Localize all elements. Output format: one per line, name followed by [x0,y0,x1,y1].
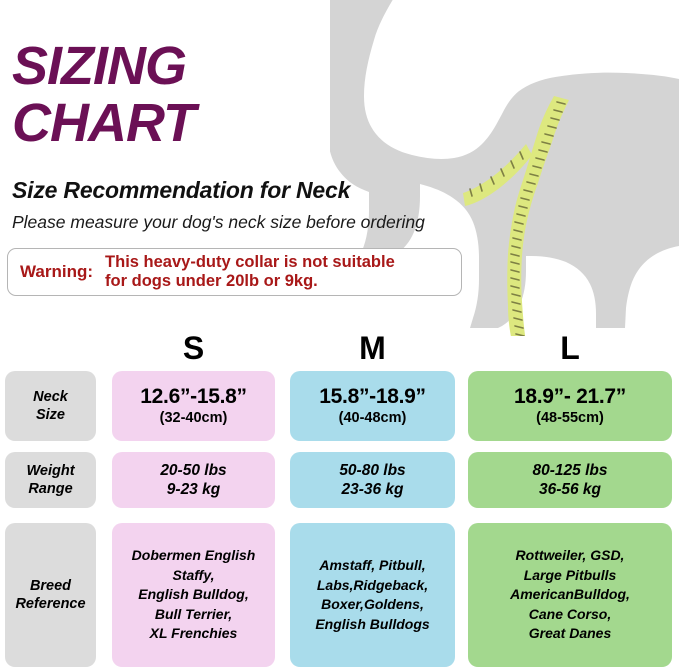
breed-large-line-4: Cane Corso, [529,605,611,625]
measuring-instruction: Please measure your dog's neck size befo… [12,212,425,233]
weight-range-small-kg: 9-23 kg [167,480,220,499]
warning-line-1: This heavy-duty collar is not suitable [105,253,395,272]
row-label-weight-line-2: Range [28,480,72,498]
page-title: SIZING CHART [12,38,482,152]
breed-small-line-1: Dobermen English [132,546,256,566]
neck-size-small-inches: 12.6”-15.8” [140,385,246,409]
breed-medium-line-3: Boxer,Goldens, [321,595,424,615]
breed-medium-line-4: English Bulldogs [315,615,429,635]
neck-size-large: 18.9”- 21.7” (48-55cm) [468,371,672,441]
warning-line-2: for dogs under 20lb or 9kg. [105,272,395,291]
row-label-weight-range: Weight Range [5,452,96,508]
breed-reference-medium: Amstaff, Pitbull, Labs,Ridgeback, Boxer,… [290,523,455,667]
neck-size-small-cm: (32-40cm) [160,409,228,427]
title-line-1: SIZING [12,38,482,95]
breed-large-line-5: Great Danes [529,624,611,644]
size-header-small: S [112,330,275,367]
neck-size-large-inches: 18.9”- 21.7” [514,385,626,409]
weight-range-medium-kg: 23-36 kg [341,480,403,499]
breed-reference-large: Rottweiler, GSD, Large Pitbulls American… [468,523,672,667]
warning-label: Warning: [8,262,93,282]
weight-range-small: 20-50 lbs 9-23 kg [112,452,275,508]
weight-range-medium: 50-80 lbs 23-36 kg [290,452,455,508]
neck-size-small: 12.6”-15.8” (32-40cm) [112,371,275,441]
neck-size-medium-inches: 15.8”-18.9” [319,385,425,409]
breed-small-line-5: XL Frenchies [150,624,238,644]
neck-size-medium-cm: (40-48cm) [339,409,407,427]
warning-message: This heavy-duty collar is not suitable f… [93,253,395,291]
row-label-breed-reference: Breed Reference [5,523,96,667]
breed-medium-line-1: Amstaff, Pitbull, [319,556,425,576]
breed-small-line-2: Staffy, [172,566,214,586]
title-line-2: CHART [12,95,482,152]
breed-medium-line-2: Labs,Ridgeback, [317,576,428,596]
breed-large-line-2: Large Pitbulls [524,566,617,586]
weight-range-large: 80-125 lbs 36-56 kg [468,452,672,508]
weight-range-large-lbs: 80-125 lbs [533,461,608,480]
breed-large-line-1: Rottweiler, GSD, [516,546,625,566]
warning-box: Warning: This heavy-duty collar is not s… [7,248,462,296]
size-header-large: L [468,330,672,367]
row-label-weight-line-1: Weight [26,462,74,480]
sizing-chart-page: SIZING CHART Size Recommendation for Nec… [0,0,679,672]
neck-size-medium: 15.8”-18.9” (40-48cm) [290,371,455,441]
neck-size-large-cm: (48-55cm) [536,409,604,427]
page-subtitle: Size Recommendation for Neck [12,177,350,203]
row-label-breed-line-2: Reference [15,595,85,613]
weight-range-large-kg: 36-56 kg [539,480,601,499]
weight-range-small-lbs: 20-50 lbs [160,461,226,480]
breed-small-line-3: English Bulldog, [138,585,248,605]
breed-reference-small: Dobermen English Staffy, English Bulldog… [112,523,275,667]
row-label-breed-line-1: Breed [30,577,71,595]
size-header-medium: M [290,330,455,367]
row-label-neck-size: Neck Size [5,371,96,441]
row-label-neck-line-1: Neck [33,388,68,406]
weight-range-medium-lbs: 50-80 lbs [339,461,405,480]
row-label-neck-line-2: Size [36,406,65,424]
breed-small-line-4: Bull Terrier, [155,605,232,625]
breed-large-line-3: AmericanBulldog, [510,585,630,605]
